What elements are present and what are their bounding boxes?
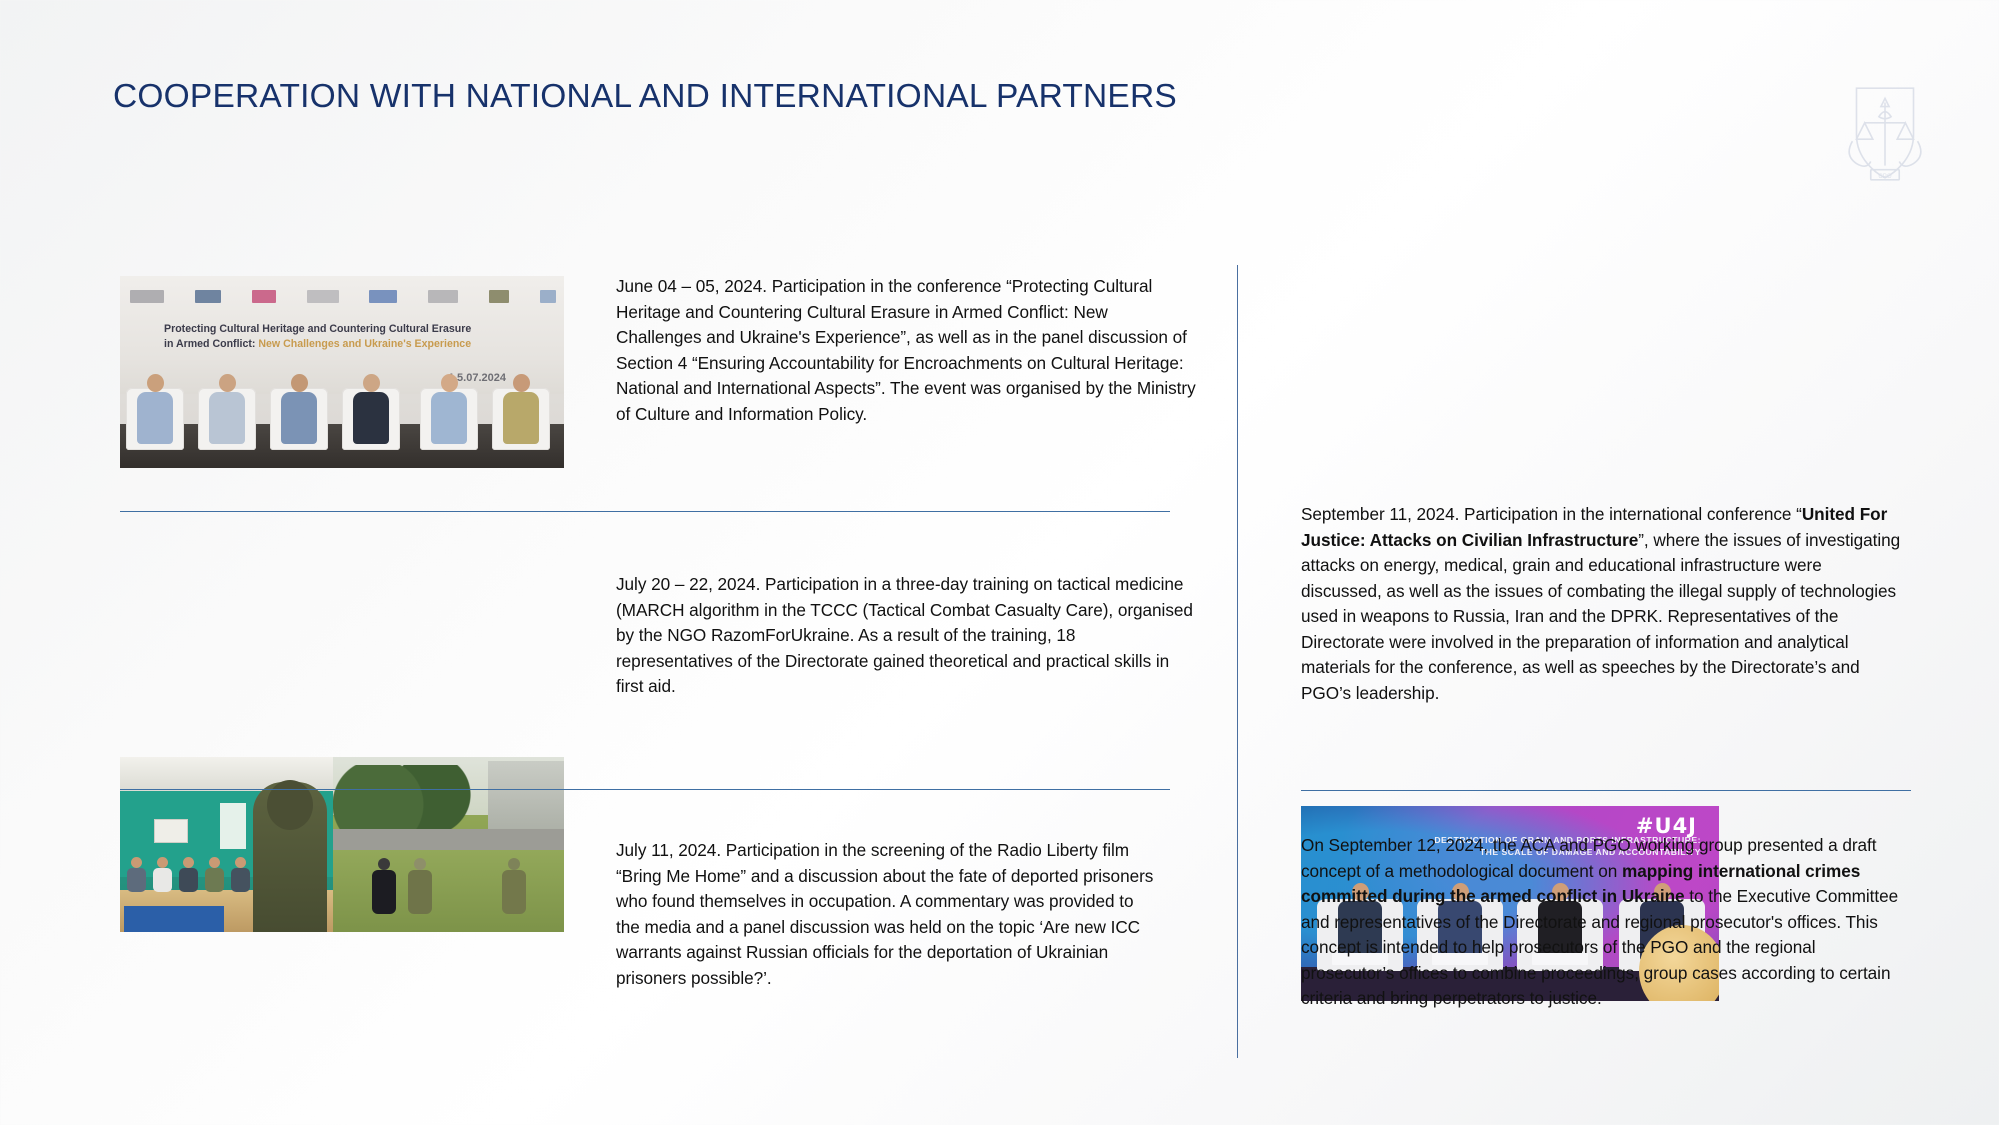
sponsor-logo-icon [252, 290, 276, 303]
sponsor-logo-icon [489, 290, 509, 303]
entry-text-united-for-justice: September 11, 2024. Participation in the… [1301, 502, 1906, 706]
photo-cultural-heritage-conference: Protecting Cultural Heritage and Counter… [120, 276, 564, 468]
entry-text-mapping-crimes: On September 12, 2024, the ACA and PGO w… [1301, 833, 1906, 1012]
panelists-group [120, 352, 564, 450]
section-divider [1301, 790, 1911, 791]
entry-text-cultural-heritage: June 04 – 05, 2024. Participation in the… [616, 274, 1196, 427]
photo-field-training [333, 757, 564, 932]
sponsor-logo-icon [369, 290, 397, 303]
tree-line [333, 765, 483, 831]
instructor [253, 782, 327, 932]
body-text: ”, where the issues of investigating att… [1301, 530, 1900, 703]
photo-tactical-medicine-training [120, 757, 564, 932]
prosecutor-emblem-logo: CPO [1833, 76, 1937, 188]
trainee [204, 857, 225, 892]
supply-table [124, 906, 224, 932]
body-text: September 11, 2024. Participation in the… [1301, 504, 1802, 524]
trainee [178, 857, 199, 892]
section-divider [120, 511, 1170, 512]
sponsor-logo-icon [307, 290, 339, 303]
sponsor-logo-strip [130, 285, 556, 307]
entry-text-tactical-medicine: July 20 – 22, 2024. Participation in a t… [616, 572, 1196, 700]
page-title: COOPERATION WITH NATIONAL AND INTERNATIO… [113, 78, 1177, 116]
usaid-logo-icon [195, 290, 221, 303]
soldier [501, 858, 527, 914]
banner-headline-line1: Protecting Cultural Heritage and Counter… [164, 323, 471, 335]
panelist [351, 374, 391, 444]
entry-text-bring-me-home: July 11, 2024. Participation in the scre… [616, 838, 1156, 991]
sponsor-logo-icon [540, 290, 556, 303]
panelist [279, 374, 319, 444]
trainee [230, 857, 251, 892]
panelist [207, 374, 247, 444]
sponsor-logo-icon [428, 290, 458, 303]
gym-window [220, 803, 246, 849]
panelist [135, 374, 175, 444]
trainee [126, 857, 147, 892]
sponsor-logo-icon [130, 290, 164, 303]
banner-headline-line2: in Armed Conflict: [164, 338, 258, 350]
panelist [429, 374, 469, 444]
trainee [152, 857, 173, 892]
panelist [501, 374, 541, 444]
column-divider [1237, 265, 1238, 1058]
basketball-hoop [154, 819, 188, 843]
photo-classroom-training [120, 757, 333, 932]
banner-headline-accent: New Challenges and Ukraine's Experience [258, 338, 471, 350]
emblem-motto: CPO [1878, 173, 1891, 180]
soldier [407, 858, 433, 914]
banner-headline: Protecting Cultural Heritage and Counter… [164, 322, 534, 352]
building [488, 761, 564, 839]
trainee-civilian [371, 858, 397, 914]
grass-field [333, 850, 564, 932]
section-divider [120, 789, 1170, 790]
